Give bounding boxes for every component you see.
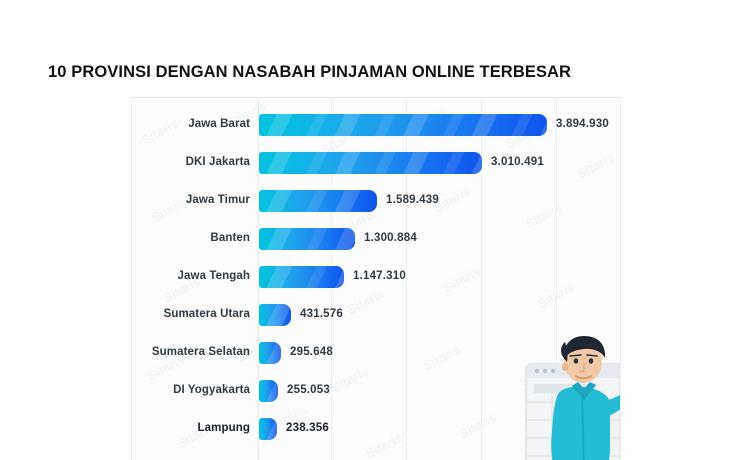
bar-value-label: 295.648 [290, 347, 333, 359]
bar-category-label: Lampung [132, 423, 250, 435]
bar-category-label: Jawa Tengah [132, 271, 250, 283]
bar-category-label: Sumatera Selatan [132, 347, 250, 359]
bar-row: Jawa Timur1.589.439 [132, 182, 620, 220]
bar-value-label: 3.010.491 [491, 157, 544, 169]
bar-category-label: Jawa Barat [132, 119, 250, 131]
calculator: 1738 C ⌫ % 7 [620, 356, 621, 460]
bar [259, 418, 277, 440]
bar [259, 190, 377, 212]
bar [259, 114, 547, 136]
page-title: 10 PROVINSI DENGAN NASABAH PINJAMAN ONLI… [48, 63, 571, 82]
bar-category-label: Jawa Timur [132, 195, 250, 207]
bar-chart-panel: SitarisSitarisSitarisSitarisSitarisSitar… [131, 97, 621, 460]
bar-category-label: DKI Jakarta [132, 157, 250, 169]
bar-row: Jawa Barat3.894.930 [132, 106, 620, 144]
bar-value-label: 3.894.930 [556, 119, 609, 131]
bar-row: DI Yogyakarta255.053 [132, 372, 620, 410]
bar-value-label: 1.147.310 [353, 271, 406, 283]
bar-row: Jawa Tengah1.147.310 [132, 258, 620, 296]
bar [259, 304, 291, 326]
bar-value-label: 431.576 [300, 309, 343, 321]
bar-value-label: 1.589.439 [386, 195, 439, 207]
bar-value-label: 1.300.884 [364, 233, 417, 245]
bar [259, 152, 482, 174]
bar-row: Sumatera Selatan295.648 [132, 334, 620, 372]
bar [259, 266, 344, 288]
bar-category-label: Banten [132, 233, 250, 245]
bar-row: Sumatera Utara431.576 [132, 296, 620, 334]
bar-category-label: DI Yogyakarta [132, 385, 250, 397]
infographic-root: 10 PROVINSI DENGAN NASABAH PINJAMAN ONLI… [0, 0, 750, 460]
bar-value-label: 255.053 [287, 385, 330, 397]
bar [259, 342, 281, 364]
bar [259, 228, 355, 250]
bar-row: Banten1.300.884 [132, 220, 620, 258]
bar [259, 380, 278, 402]
bar-category-label: Sumatera Utara [132, 309, 250, 321]
bar-row: DKI Jakarta3.010.491 [132, 144, 620, 182]
bar-row: Lampung238.356 [132, 410, 620, 448]
bar-value-label: 238.356 [286, 423, 329, 435]
